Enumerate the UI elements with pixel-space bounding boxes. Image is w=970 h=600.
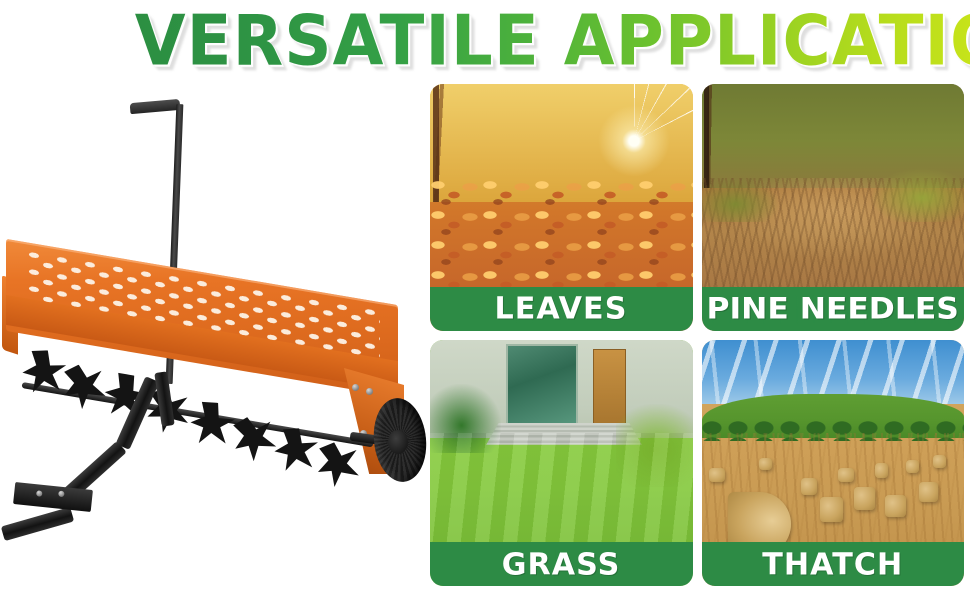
handle-grip-icon <box>130 99 181 114</box>
page-title-text: VERSATILE APPLICATION <box>135 6 970 75</box>
application-card-thatch[interactable]: THATCH <box>702 340 965 587</box>
hay-bale <box>759 458 772 470</box>
hay-bale <box>906 460 919 472</box>
hay-bale <box>885 495 906 517</box>
pine-needles-label-bar: PINE NEEDLES <box>702 287 965 331</box>
grass-label: GRASS <box>502 549 621 579</box>
page-title: VERSATILE APPLICATION <box>228 4 970 78</box>
product-image <box>0 82 424 542</box>
tow-bar-lower-arm <box>1 507 74 541</box>
application-card-pine-needles[interactable]: PINE NEEDLES <box>702 84 965 331</box>
application-card-grass[interactable]: GRASS <box>430 340 693 587</box>
scrub-left <box>702 178 781 222</box>
hay-bale <box>919 482 937 502</box>
hay-bale <box>854 487 875 509</box>
hay-bale <box>820 497 844 522</box>
hay-bale <box>709 468 725 483</box>
sun-starburst-icon <box>574 84 693 201</box>
rivet-icon <box>36 490 43 497</box>
wheel-hub-icon <box>388 430 408 454</box>
star-tine-icon <box>313 439 364 490</box>
rivet-icon <box>352 384 359 391</box>
thatch-label: THATCH <box>762 549 903 579</box>
scrub-right <box>870 168 965 222</box>
hay-bale <box>875 463 888 478</box>
tow-bar <box>8 370 238 550</box>
thatch-label-bar: THATCH <box>702 542 965 586</box>
rivet-icon <box>58 491 65 498</box>
grass-label-bar: GRASS <box>430 542 693 586</box>
hay-bale <box>801 478 817 495</box>
leaves-label-bar: LEAVES <box>430 287 693 331</box>
tow-bar-brace <box>154 371 174 426</box>
pine-needles-label: PINE NEEDLES <box>707 294 959 323</box>
glass-doors <box>506 344 578 429</box>
leaves-label: LEAVES <box>495 293 628 323</box>
application-card-leaves[interactable]: LEAVES <box>430 84 693 331</box>
rivet-icon <box>366 388 373 395</box>
application-grid: LEAVES PINE NEEDLES <box>430 84 964 586</box>
hay-bale <box>933 455 946 467</box>
tow-bar-upper-arm <box>116 376 160 450</box>
hay-bale <box>838 468 854 483</box>
